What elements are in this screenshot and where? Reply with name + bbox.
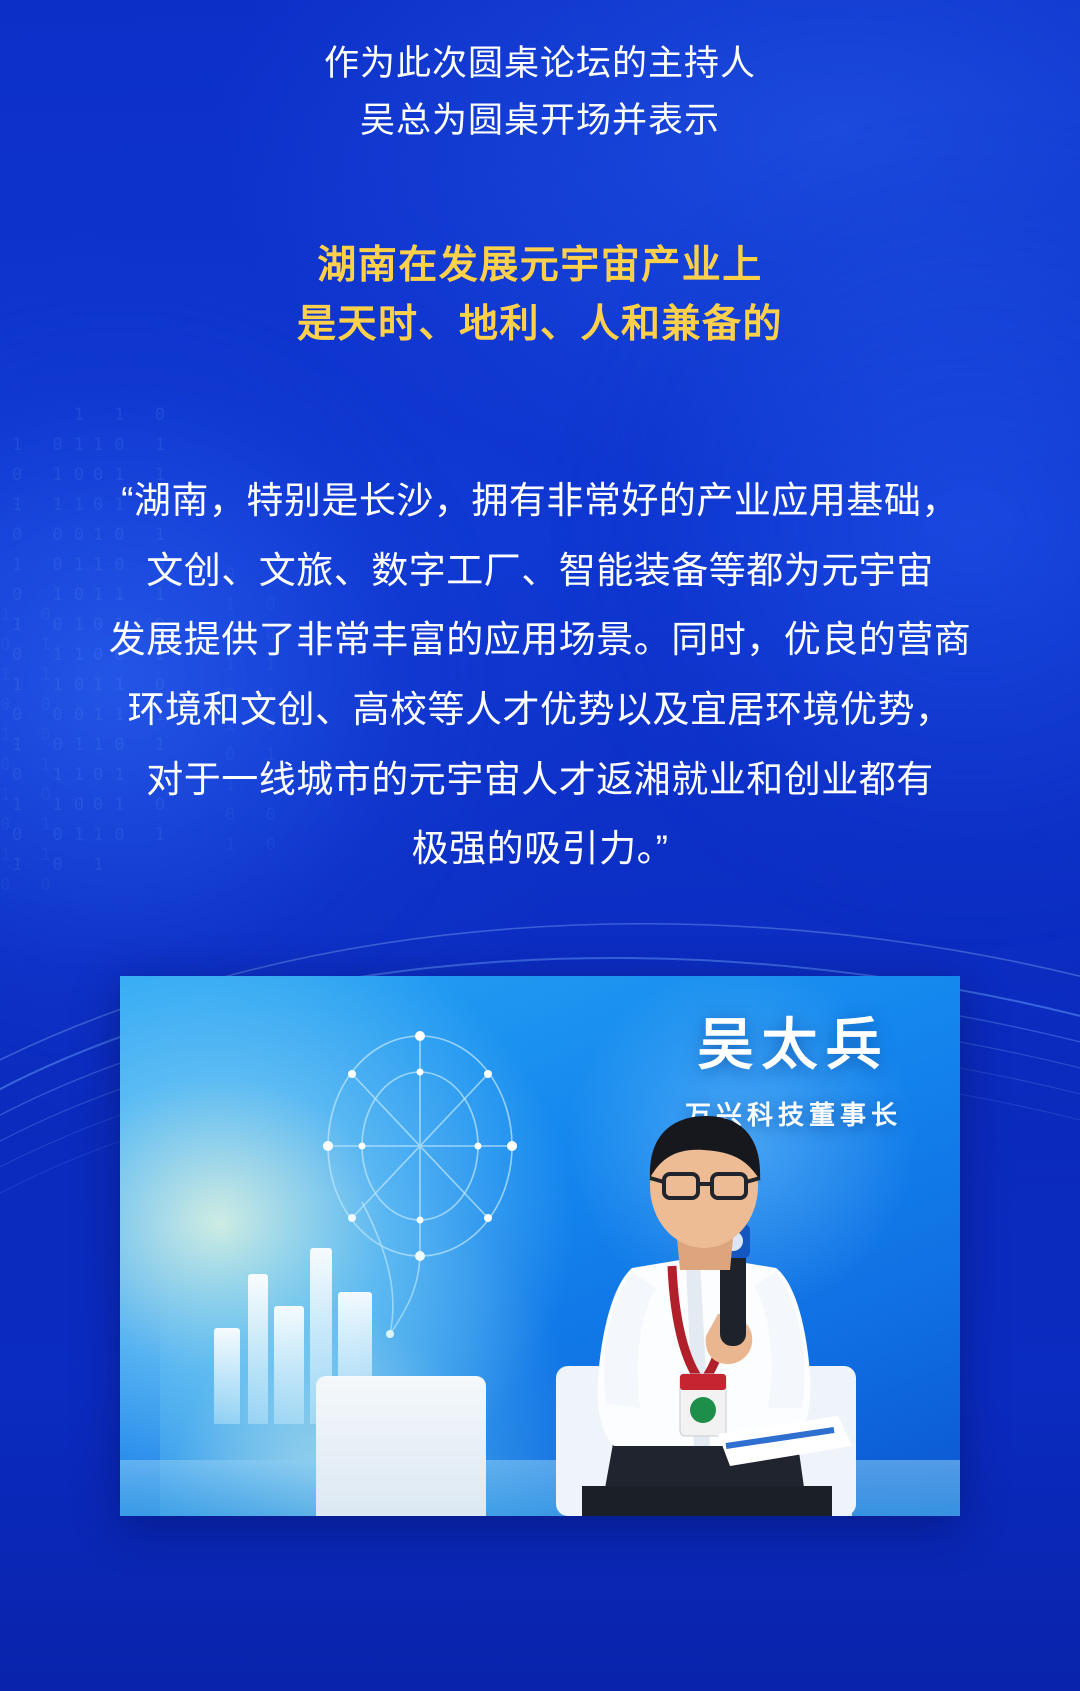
quote-line-6: 极强的吸引力。”: [44, 814, 1036, 884]
quote-line-5: 对于一线城市的元宇宙人才返湘就业和创业都有: [44, 745, 1036, 815]
speaker-photo: 吴太兵 万兴科技董事长: [120, 976, 960, 1516]
poster-canvas: 1 0 1 0 1 0 1 1 0 0 0 1 1 0 1 0 1 1 1 0 …: [0, 0, 1080, 1691]
intro-text: 作为此次圆桌论坛的主持人 吴总为圆桌开场并表示: [0, 0, 1080, 149]
stage-backdrop: 吴太兵 万兴科技董事长: [120, 976, 960, 1516]
speaker-nameplate: 吴太兵 万兴科技董事长: [685, 1014, 902, 1133]
quote-line-4: 环境和文创、高校等人才优势以及宜居环境优势，: [44, 675, 1036, 745]
headline: 湖南在发展元宇宙产业上 是天时、地利、人和兼备的: [0, 237, 1080, 354]
headline-line-1: 湖南在发展元宇宙产业上: [0, 237, 1080, 296]
speaker-figure: [522, 1116, 882, 1516]
intro-line-2: 吴总为圆桌开场并表示: [0, 93, 1080, 150]
speaker-name: 吴太兵: [685, 1014, 902, 1076]
stage-armchair-left: [316, 1376, 486, 1516]
quote-line-2: 文创、文旅、数字工厂、智能装备等都为元宇宙: [44, 536, 1036, 606]
quote-line-1: “湖南，特别是长沙，拥有非常好的产业应用基础，: [44, 466, 1036, 536]
quote-text: “湖南，特别是长沙，拥有非常好的产业应用基础， 文创、文旅、数字工厂、智能装备等…: [0, 466, 1080, 883]
intro-line-1: 作为此次圆桌论坛的主持人: [0, 36, 1080, 93]
headline-line-2: 是天时、地利、人和兼备的: [0, 296, 1080, 355]
quote-line-3: 发展提供了非常丰富的应用场景。同时，优良的营商: [44, 605, 1036, 675]
